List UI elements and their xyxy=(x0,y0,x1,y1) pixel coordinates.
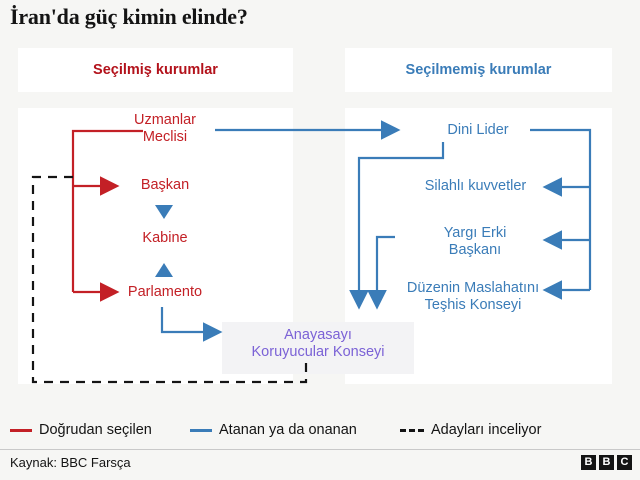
node-silahli-kuvvetler: Silahlı kuvvetler xyxy=(388,178,563,195)
infographic-canvas: İran'da güç kimin elinde? Seçilmiş kurum… xyxy=(0,0,640,480)
triangle-up-icon xyxy=(155,263,173,277)
node-dini-lider: Dini Lider xyxy=(403,122,553,139)
triangle-down-icon xyxy=(155,205,173,219)
legend-swatch-blue xyxy=(190,429,212,432)
legend-label-vets-candidates: Adayları inceliyor xyxy=(431,422,541,438)
legend-item-vets-candidates: Adayları inceliyor xyxy=(400,415,541,445)
source-label: Kaynak: BBC Farsça xyxy=(10,455,131,470)
legend-label-appointed-approved: Atanan ya da onanan xyxy=(219,422,357,438)
node-duzenin-maslahatini-teshis-konseyi: Düzenin Maslahatını Teşhis Konseyi xyxy=(378,280,568,314)
legend-swatch-dashed xyxy=(400,429,424,432)
node-yargi-erki-baskani: Yargı Erki Başkanı xyxy=(400,225,550,259)
legend-item-direct-elected: Doğrudan seçilen xyxy=(10,415,152,445)
legend-label-direct-elected: Doğrudan seçilen xyxy=(39,422,152,438)
legend: Doğrudan seçilen Atanan ya da onanan Ada… xyxy=(0,415,640,445)
bbc-logo-letter-1: B xyxy=(581,455,596,470)
bbc-logo-letter-3: C xyxy=(617,455,632,470)
legend-swatch-red xyxy=(10,429,32,432)
footer-divider xyxy=(0,449,640,450)
legend-item-appointed-approved: Atanan ya da onanan xyxy=(190,415,357,445)
bbc-logo-letter-2: B xyxy=(599,455,614,470)
bbc-logo: B B C xyxy=(581,455,632,470)
node-anayasayi-koruyucular-konseyi: Anayasayı Koruyucular Konseyi xyxy=(222,327,414,361)
